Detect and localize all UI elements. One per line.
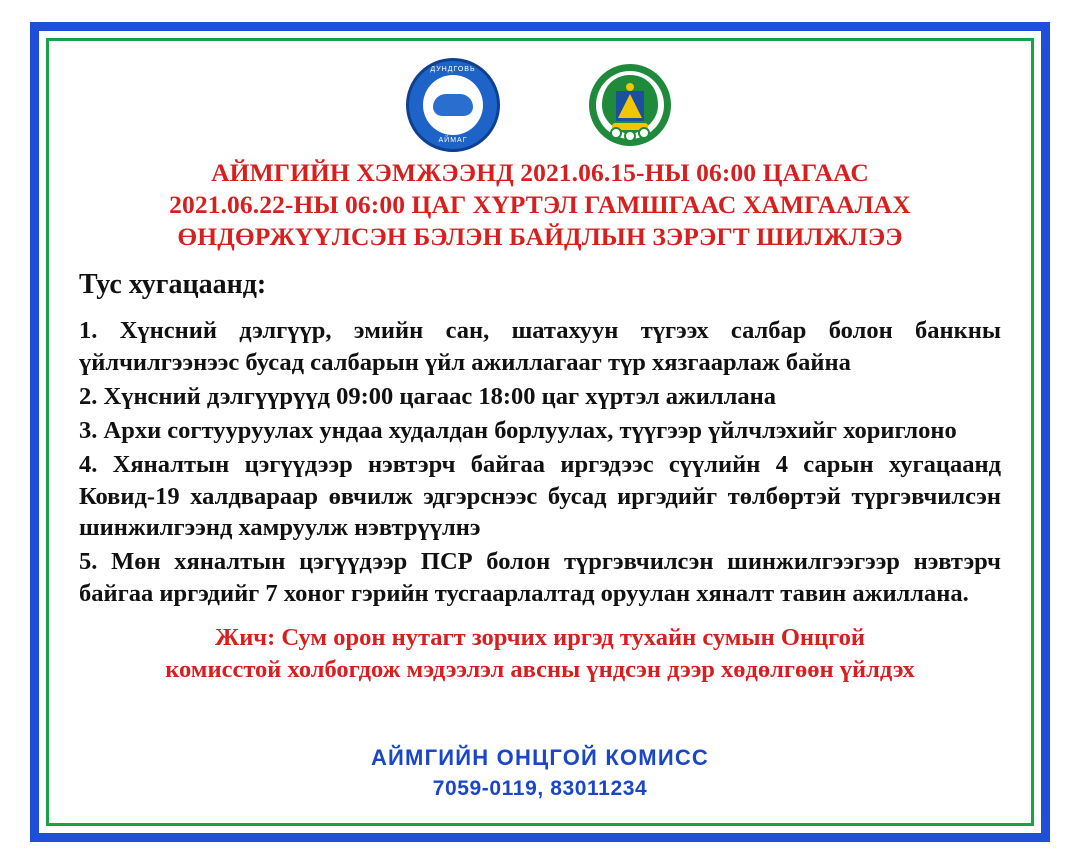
outer-blue-border: ДУНДГОВЬ АЙМАГ <box>30 22 1050 842</box>
measures-list: 1. Хүнсний дэлгүүр, эмийн сан, шатахуун … <box>79 315 1001 612</box>
logo-row: ДУНДГОВЬ АЙМАГ <box>75 59 1005 151</box>
headline-line-1: АЙМГИЙН ХЭМЖЭЭНД 2021.06.15-НЫ 06:00 ЦАГ… <box>79 157 1001 189</box>
inner-green-border: ДУНДГОВЬ АЙМАГ <box>46 38 1034 826</box>
mongolia-state-emblem-icon <box>586 61 674 149</box>
headline-line-2: 2021.06.22-НЫ 06:00 ЦАГ ХҮРТЭЛ ГАМШГААС … <box>79 189 1001 221</box>
poster-root: ДУНДГОВЬ АЙМАГ <box>0 0 1080 864</box>
province-emblem-bottom-text: АЙМАГ <box>409 137 497 144</box>
list-item: 4. Хяналтын цэгүүдээр нэвтэрч байгаа ирг… <box>79 449 1001 545</box>
headline-line-3: ӨНДӨРЖҮҮЛСЭН БЭЛЭН БАЙДЛЫН ЗЭРЭГТ ШИЛЖЛЭ… <box>79 221 1001 253</box>
intro-text: Тус хугацаанд: <box>79 269 1005 301</box>
province-emblem-disc <box>423 75 483 135</box>
dundgovi-province-emblem-icon: ДУНДГОВЬ АЙМАГ <box>406 58 500 152</box>
note-line-2: комисстой холбогдож мэдээлэл авсны үндсэ… <box>85 654 995 686</box>
list-item: 3. Архи согтууруулах ундаа худалдан борл… <box>79 415 1001 447</box>
note-line-1: Жич: Сум орон нутагт зорчих иргэд тухайн… <box>85 622 995 654</box>
list-item: 1. Хүнсний дэлгүүр, эмийн сан, шатахуун … <box>79 315 1001 379</box>
footer: АЙМГИЙН ОНЦГОЙ КОМИСС 7059-0119, 8301123… <box>75 745 1005 815</box>
note-block: Жич: Сум орон нутагт зорчих иргэд тухайн… <box>85 622 995 686</box>
footer-phone-numbers: 7059-0119, 83011234 <box>75 777 1005 801</box>
footer-organization: АЙМГИЙН ОНЦГОЙ КОМИСС <box>75 745 1005 771</box>
list-item: 2. Хүнсний дэлгүүрүүд 09:00 цагаас 18:00… <box>79 381 1001 413</box>
list-item: 5. Мөн хяналтын цэгүүдээр ПСР болон түрг… <box>79 546 1001 610</box>
page-title: АЙМГИЙН ХЭМЖЭЭНД 2021.06.15-НЫ 06:00 ЦАГ… <box>79 157 1001 253</box>
province-emblem-top-text: ДУНДГОВЬ <box>409 66 497 73</box>
